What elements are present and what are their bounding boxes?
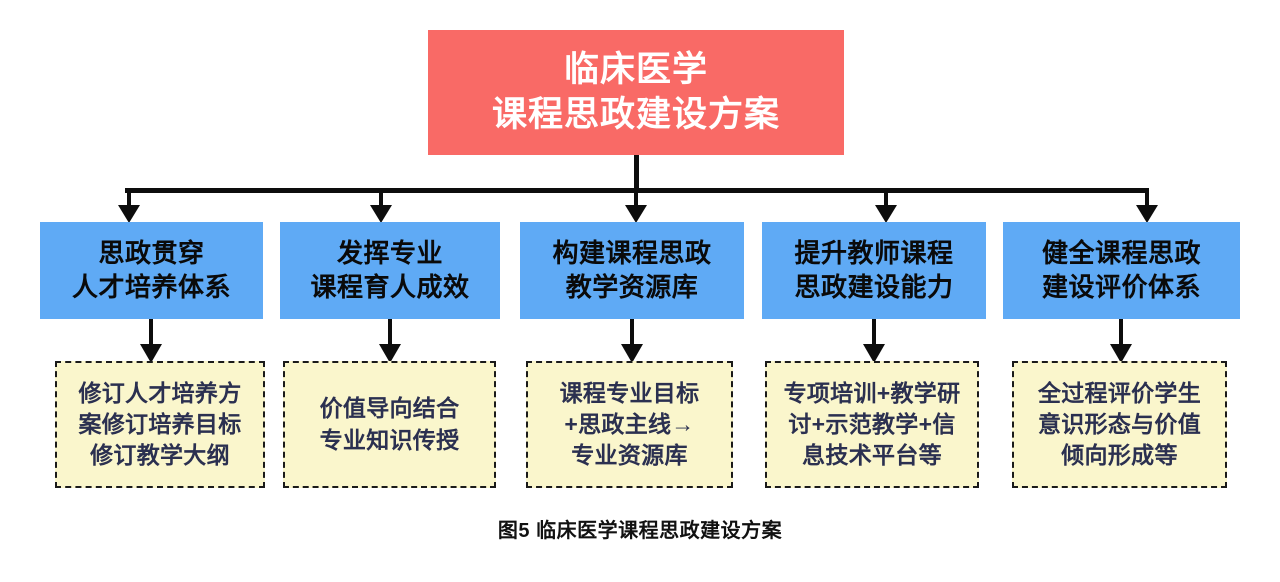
level2-node-3-line-1: 课程专业目标 — [560, 378, 700, 409]
level2-node-4-line-1: 专项培训+教学研 — [784, 378, 961, 409]
level2-node-1-line-2: 案修订培养目标 — [78, 409, 241, 440]
level1-node-4-line-2: 思政建设能力 — [794, 271, 953, 305]
level2-node-2[interactable]: 价值导向结合 专业知识传授 — [283, 361, 496, 488]
level2-node-1-line-1: 修订人才培养方 — [78, 378, 241, 409]
level1-node-4-line-1: 提升教师课程 — [794, 237, 953, 271]
level2-node-5-line-1: 全过程评价学生 — [1038, 378, 1201, 409]
level1-node-2-line-1: 发挥专业 — [337, 237, 443, 271]
level1-node-3-line-2: 教学资源库 — [566, 271, 699, 305]
level1-node-3[interactable]: 构建课程思政 教学资源库 — [520, 222, 744, 319]
arrowhead-down-1 — [118, 205, 140, 223]
level1-node-1-line-1: 思政贯穿 — [98, 237, 204, 271]
level1-node-1[interactable]: 思政贯穿 人才培养体系 — [40, 222, 263, 319]
figure-caption: 图5 临床医学课程思政建设方案 — [0, 514, 1280, 543]
level2-node-3-line-3: 专业资源库 — [571, 440, 688, 471]
arrowhead-down-2 — [370, 205, 392, 223]
flowchart-figure: 临床医学 课程思政建设方案 思政贯穿 人才培养体系 发挥专业 课程育人成效 构建… — [0, 0, 1280, 582]
connector-link-5 — [1119, 319, 1123, 345]
connector-link-1 — [149, 319, 153, 345]
level1-node-4[interactable]: 提升教师课程 思政建设能力 — [762, 222, 986, 319]
level2-node-5[interactable]: 全过程评价学生 意识形态与价值 倾向形成等 — [1012, 361, 1227, 488]
level2-node-3-line-2: +思政主线→ — [564, 409, 694, 440]
root-node-line-2: 课程思政建设方案 — [492, 93, 780, 138]
level2-node-4-line-3: 息技术平台等 — [802, 440, 942, 471]
level1-node-5[interactable]: 健全课程思政 建设评价体系 — [1003, 222, 1240, 319]
level1-node-2[interactable]: 发挥专业 课程育人成效 — [280, 222, 500, 319]
level1-node-1-line-2: 人才培养体系 — [72, 271, 231, 305]
root-node-title: 临床医学 课程思政建设方案 — [428, 30, 844, 155]
level2-node-1[interactable]: 修订人才培养方 案修订培养目标 修订教学大纲 — [55, 361, 265, 488]
connector-link-4 — [872, 319, 876, 345]
arrowhead-down-3 — [625, 205, 647, 223]
level1-node-3-line-1: 构建课程思政 — [552, 237, 711, 271]
root-node-line-1: 临床医学 — [564, 48, 708, 93]
connector-link-2 — [388, 319, 392, 345]
level2-node-4-line-2: 讨+示范教学+信 — [788, 409, 955, 440]
level2-node-3[interactable]: 课程专业目标 +思政主线→ 专业资源库 — [526, 361, 733, 488]
level1-node-5-line-1: 健全课程思政 — [1042, 237, 1201, 271]
level1-node-5-line-2: 建设评价体系 — [1042, 271, 1201, 305]
connector-root-stem — [634, 155, 639, 191]
level2-node-4[interactable]: 专项培训+教学研 讨+示范教学+信 息技术平台等 — [765, 361, 979, 488]
level2-node-2-line-2: 专业知识传授 — [320, 425, 460, 456]
connector-link-3 — [630, 319, 634, 345]
arrowhead-down-4 — [875, 205, 897, 223]
level2-node-5-line-2: 意识形态与价值 — [1038, 409, 1201, 440]
arrowhead-down-5 — [1136, 205, 1158, 223]
level2-node-2-line-1: 价值导向结合 — [320, 393, 460, 424]
level1-node-2-line-2: 课程育人成效 — [310, 271, 469, 305]
level2-node-5-line-3: 倾向形成等 — [1061, 440, 1178, 471]
level2-node-1-line-3: 修订教学大纲 — [90, 440, 230, 471]
